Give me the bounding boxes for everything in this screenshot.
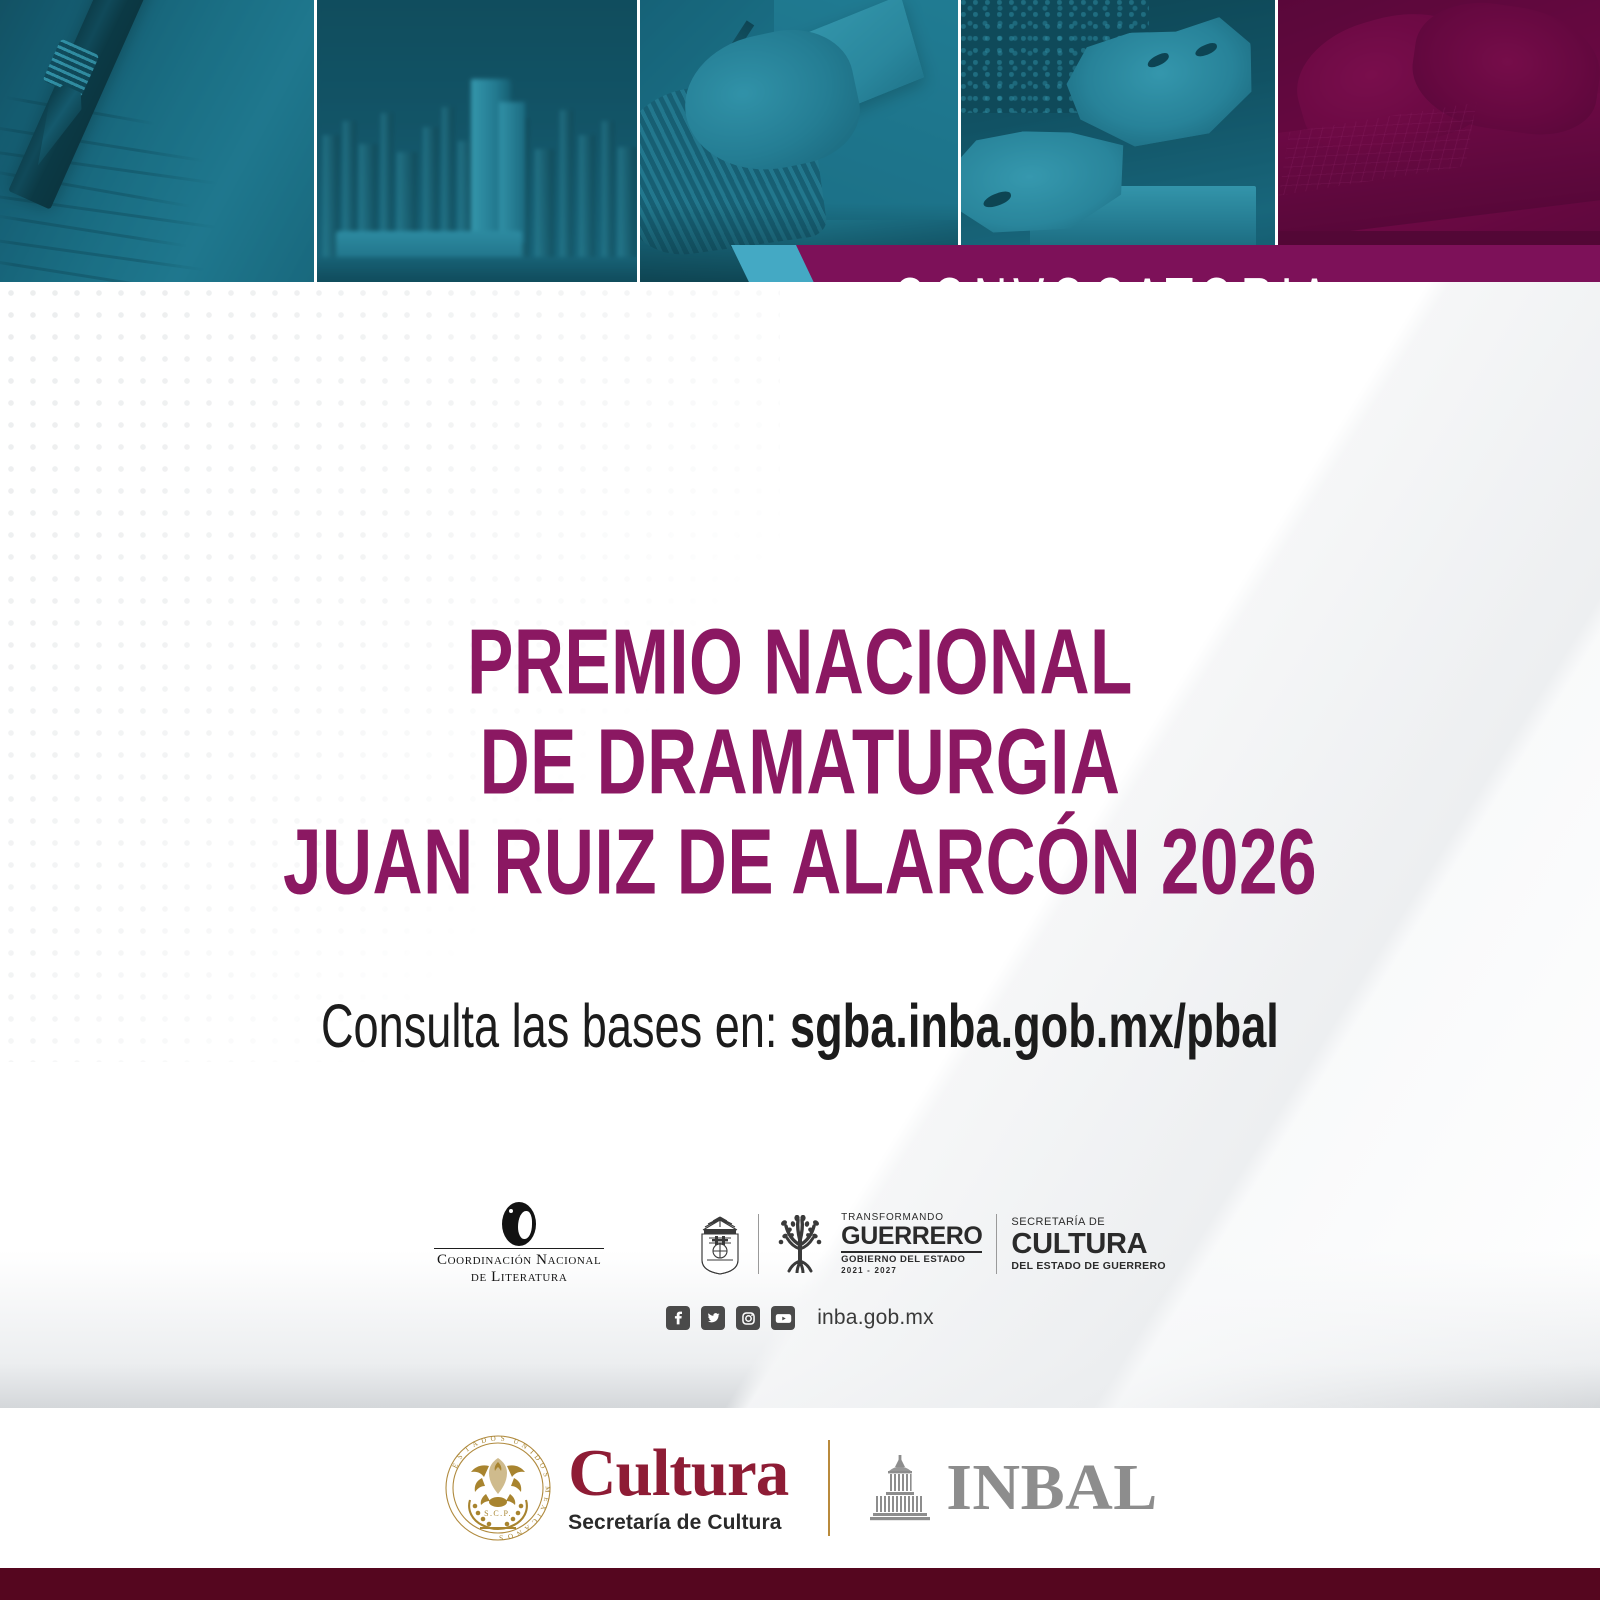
- svg-text:E: E: [451, 1461, 461, 1470]
- page-title: PREMIO NACIONAL DE DRAMATURGIA JUAN RUIZ…: [0, 612, 1600, 912]
- poster-body: PREMIO NACIONAL DE DRAMATURGIA JUAN RUIZ…: [0, 282, 1600, 1408]
- photo-panel-venetian-masks-on-books: [961, 0, 1275, 282]
- divider: [828, 1440, 830, 1536]
- instagram-icon[interactable]: [736, 1306, 760, 1330]
- cnl-line-2: de Literatura: [434, 1269, 604, 1286]
- photo-panel-bookshelf-with-books: [317, 0, 637, 282]
- cultura-guerrero-line-3: DEL ESTADO DE GUERRERO: [1011, 1261, 1165, 1272]
- guerrero-government: GOBIERNO DEL ESTADO: [841, 1255, 982, 1265]
- svg-text:S: S: [500, 1435, 506, 1443]
- photo-panel-hand-writing-on-notebook: [640, 0, 958, 282]
- divider: [841, 1251, 982, 1253]
- inbal-logo: INBAL: [870, 1450, 1158, 1526]
- cnl-line-1: Coordinación Nacional: [434, 1252, 604, 1269]
- partner-logos-row: Coordinación Nacional de Literatura: [0, 1194, 1600, 1294]
- logo-secretaria-cultura-guerrero: SECRETARÍA DE CULTURA DEL ESTADO DE GUER…: [1011, 1217, 1165, 1272]
- svg-text:O: O: [490, 1434, 497, 1443]
- svg-text:E: E: [542, 1496, 551, 1503]
- header-photo-strip: [0, 0, 1600, 282]
- guerrero-wordmark: TRANSFORMANDO GUERRERO GOBIERNO DEL ESTA…: [841, 1213, 982, 1275]
- footer-accent-bar: [0, 1568, 1600, 1600]
- inbal-word: INBAL: [946, 1450, 1158, 1526]
- cultura-wordmark: Cultura Secretaría de Cultura: [568, 1441, 788, 1535]
- cultura-guerrero-line-2: CULTURA: [1011, 1230, 1165, 1259]
- guerrero-tree-icon: [773, 1215, 827, 1273]
- bellas-artes-palace-icon: [870, 1455, 930, 1521]
- twitter-icon[interactable]: [701, 1306, 725, 1330]
- logo-coordinacion-nacional-de-literatura: Coordinación Nacional de Literatura: [434, 1202, 604, 1287]
- cultura-subtitle: Secretaría de Cultura: [568, 1511, 788, 1535]
- photo-panel-hands-typing-on-laptop: [1278, 0, 1600, 282]
- mexican-coat-of-arms-icon: E S T A D O S U N I D O S M E X I: [442, 1432, 554, 1544]
- website-text[interactable]: inba.gob.mx: [817, 1306, 934, 1330]
- bases-url-link[interactable]: sgba.inba.gob.mx/pbal: [790, 991, 1279, 1060]
- guerrero-period: 2021 - 2027: [841, 1267, 982, 1275]
- bases-lead-text: Consulta las bases en:: [321, 991, 777, 1060]
- divider: [758, 1214, 759, 1274]
- institutional-footer: E S T A D O S U N I D O S M E X I: [0, 1408, 1600, 1568]
- title-line-3: JUAN RUIZ DE ALARCÓN 2026: [8, 796, 1592, 928]
- cultura-word: Cultura: [568, 1441, 788, 1505]
- guerrero-coat-of-arms-icon: [696, 1213, 744, 1275]
- svg-text:S.C.P.: S.C.P.: [484, 1509, 512, 1518]
- photo-panel-fountain-pen-on-manuscript: [0, 0, 314, 282]
- facebook-icon[interactable]: [666, 1306, 690, 1330]
- face-silhouette-icon: [502, 1202, 536, 1246]
- youtube-icon[interactable]: [771, 1306, 795, 1330]
- divider: [996, 1214, 997, 1274]
- guerrero-name: GUERRERO: [841, 1224, 982, 1249]
- logo-guerrero-cluster: TRANSFORMANDO GUERRERO GOBIERNO DEL ESTA…: [696, 1213, 1166, 1275]
- poster-canvas: CONVOCATORIA PREMIO NACIONAL DE DRAMATUR…: [0, 0, 1600, 1600]
- bases-line: Consulta las bases en: sgba.inba.gob.mx/…: [0, 998, 1600, 1053]
- cultura-guerrero-line-1: SECRETARÍA DE: [1011, 1217, 1165, 1228]
- svg-text:M: M: [544, 1486, 552, 1494]
- social-links-row: inba.gob.mx: [0, 1300, 1600, 1336]
- svg-text:S: S: [498, 1533, 503, 1541]
- divider: [434, 1248, 604, 1249]
